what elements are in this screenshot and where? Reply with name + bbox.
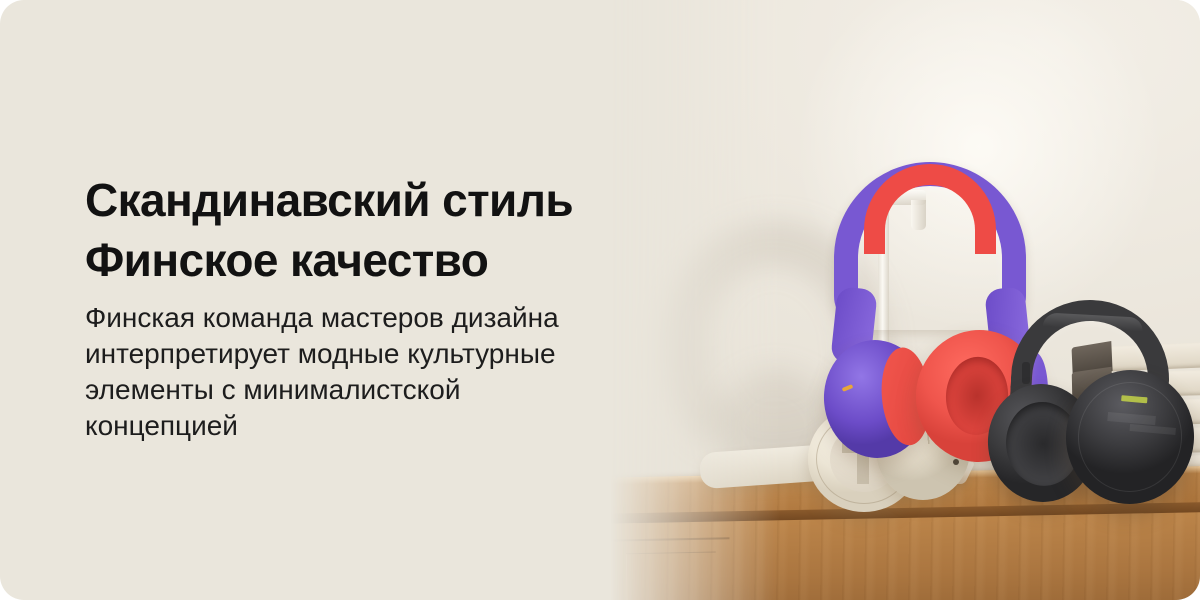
copy-block: Скандинавский стиль Финское качество Фин…	[85, 170, 685, 444]
headphones-black	[988, 300, 1193, 510]
cabinet-body	[579, 512, 1200, 600]
banner-headline: Скандинавский стиль Финское качество	[85, 170, 685, 290]
banner-subcopy: Финская команда мастеров дизайна интерпр…	[85, 300, 685, 444]
promo-banner[interactable]: Скандинавский стиль Финское качество Фин…	[0, 0, 1200, 600]
cabinet-door-left[interactable]	[609, 537, 730, 600]
black-hinge	[1022, 362, 1030, 384]
